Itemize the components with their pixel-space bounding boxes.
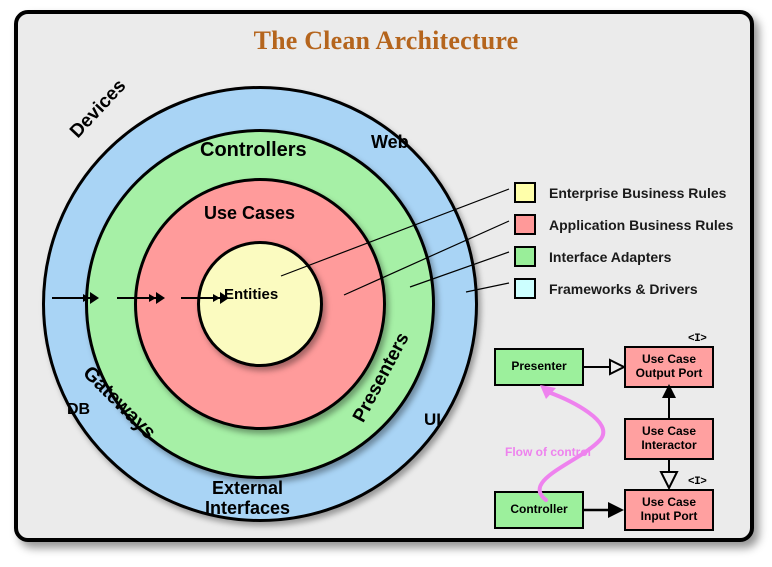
flow-box-use-case-output-port: Use Case Output Port (624, 346, 714, 388)
dependency-arrow-3 (181, 291, 231, 305)
legend-swatch-frameworks (514, 278, 536, 299)
legend-label-enterprise: Enterprise Business Rules (549, 185, 726, 201)
legend-label-application: Application Business Rules (549, 217, 733, 233)
label-controllers: Controllers (200, 139, 307, 161)
legend-item: Application Business Rules (514, 210, 733, 239)
legend: Enterprise Business Rules Application Bu… (514, 178, 733, 306)
legend-label-frameworks: Frameworks & Drivers (549, 281, 698, 297)
label-entities: Entities (224, 287, 278, 304)
interface-marker-output-port: <I> (688, 333, 706, 345)
page-title: The Clean Architecture (0, 26, 772, 56)
label-use-cases: Use Cases (204, 203, 295, 223)
dependency-arrow-2 (117, 291, 167, 305)
interface-marker-input-port: <I> (688, 476, 706, 488)
legend-swatch-enterprise (514, 182, 536, 203)
dependency-arrow-1 (52, 291, 100, 305)
legend-swatch-application (514, 214, 536, 235)
legend-swatch-interface-adapters (514, 246, 536, 267)
legend-item: Enterprise Business Rules (514, 178, 733, 207)
flow-box-controller: Controller (494, 491, 584, 529)
flow-box-presenter: Presenter (494, 348, 584, 386)
legend-item: Interface Adapters (514, 242, 733, 271)
label-external-interfaces: External Interfaces (205, 478, 290, 518)
diagram-canvas: The Clean Architecture Controllers Use C… (0, 0, 772, 567)
flow-box-use-case-interactor: Use Case Interactor (624, 418, 714, 460)
flow-of-control-label: Flow of control (505, 445, 591, 459)
label-web: Web (371, 132, 409, 152)
legend-item: Frameworks & Drivers (514, 274, 733, 303)
legend-label-interface-adapters: Interface Adapters (549, 249, 671, 265)
label-ui: UI (424, 410, 441, 429)
flow-box-use-case-input-port: Use Case Input Port (624, 489, 714, 531)
label-db: DB (67, 401, 90, 419)
